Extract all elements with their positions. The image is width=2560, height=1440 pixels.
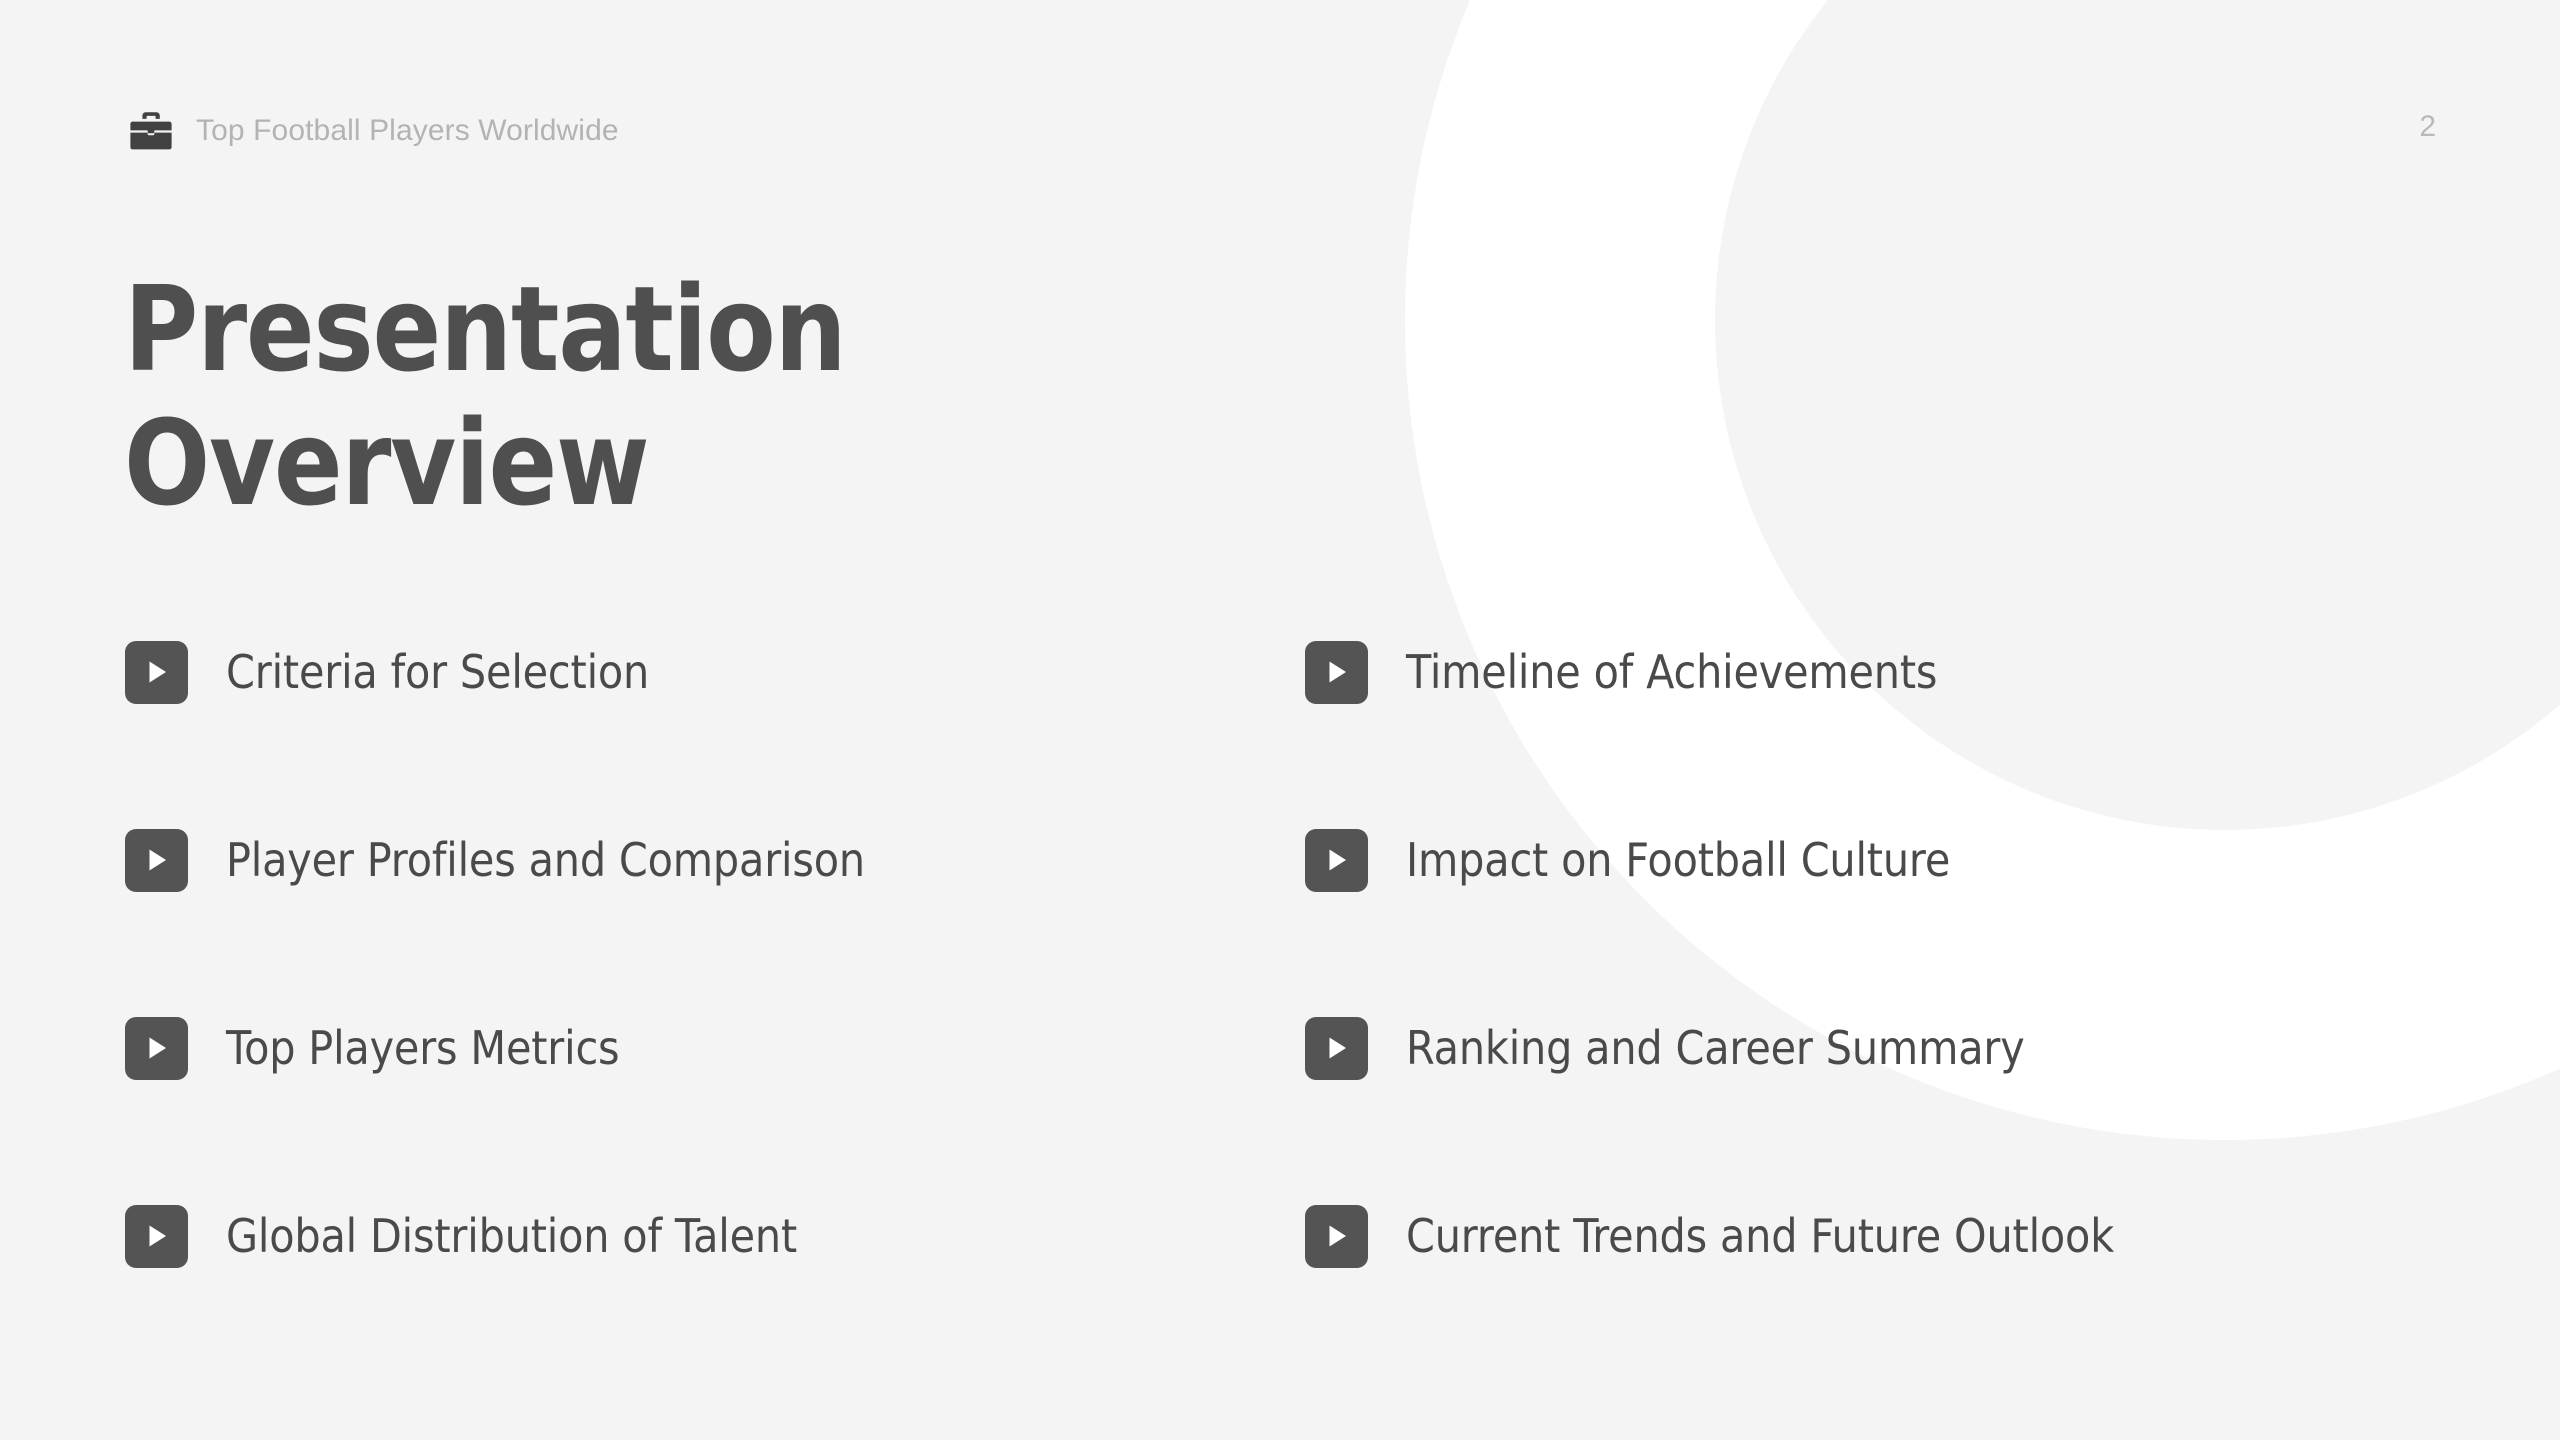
agenda-item-label: Impact on Football Culture xyxy=(1406,833,1950,887)
briefcase-icon xyxy=(128,108,174,154)
play-icon xyxy=(1305,829,1368,892)
agenda-item-label: Global Distribution of Talent xyxy=(226,1209,797,1263)
agenda-item[interactable]: Impact on Football Culture xyxy=(1305,828,2455,892)
page-title: Presentation Overview xyxy=(124,262,845,530)
agenda-item[interactable]: Criteria for Selection xyxy=(125,640,1225,704)
play-icon xyxy=(125,1205,188,1268)
agenda-item-label: Timeline of Achievements xyxy=(1406,645,1937,699)
page-number: 2 xyxy=(2419,110,2436,144)
play-icon xyxy=(125,641,188,704)
agenda-column-left: Criteria for Selection Player Profiles a… xyxy=(125,640,1225,1268)
play-icon xyxy=(125,829,188,892)
brand-label: Top Football Players Worldwide xyxy=(196,114,619,148)
play-icon xyxy=(125,1017,188,1080)
agenda-item[interactable]: Top Players Metrics xyxy=(125,1016,1225,1080)
agenda-item[interactable]: Player Profiles and Comparison xyxy=(125,828,1225,892)
slide-header: Top Football Players Worldwide xyxy=(128,108,619,154)
presentation-slide: Top Football Players Worldwide 2 Present… xyxy=(0,0,2560,1440)
play-icon xyxy=(1305,1205,1368,1268)
agenda-item[interactable]: Timeline of Achievements xyxy=(1305,640,2455,704)
agenda-item[interactable]: Ranking and Career Summary xyxy=(1305,1016,2455,1080)
agenda-column-right: Timeline of Achievements Impact on Footb… xyxy=(1305,640,2455,1268)
agenda-item-label: Ranking and Career Summary xyxy=(1406,1021,2025,1075)
agenda-item-label: Current Trends and Future Outlook xyxy=(1406,1209,2114,1263)
play-icon xyxy=(1305,1017,1368,1080)
play-icon xyxy=(1305,641,1368,704)
agenda-item[interactable]: Global Distribution of Talent xyxy=(125,1204,1225,1268)
agenda-item-label: Top Players Metrics xyxy=(226,1021,619,1075)
agenda-item-label: Player Profiles and Comparison xyxy=(226,833,865,887)
agenda-item-label: Criteria for Selection xyxy=(226,645,649,699)
agenda-item[interactable]: Current Trends and Future Outlook xyxy=(1305,1204,2455,1268)
